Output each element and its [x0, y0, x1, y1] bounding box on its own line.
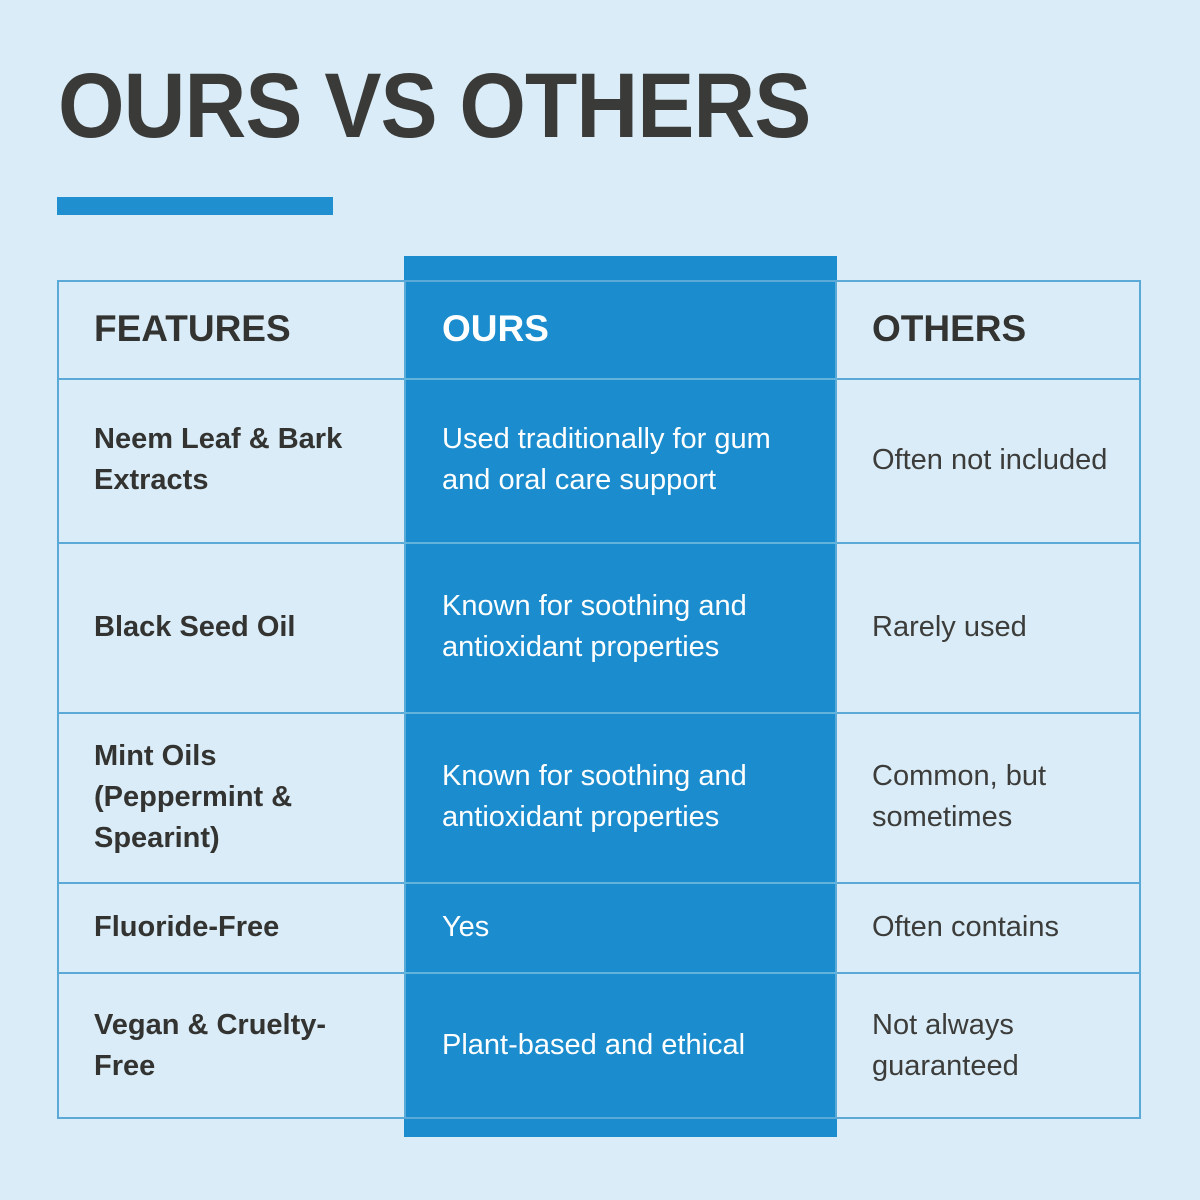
page-title: OURS VS OTHERS: [58, 54, 810, 158]
table-row: Black Seed Oil: [57, 542, 404, 712]
header-label-features: FEATURES: [94, 307, 378, 351]
table-row: Fluoride-Free: [57, 882, 404, 972]
others-cell: Common, but sometimes: [837, 712, 1141, 882]
header-label-others: OTHERS: [872, 307, 1121, 351]
ours-cell: Known for soothing and antioxidant prope…: [404, 542, 837, 712]
others-cell: Often not included: [837, 378, 1141, 542]
others-cell: Rarely used: [837, 542, 1141, 712]
feature-label: Black Seed Oil: [94, 607, 378, 648]
others-cell: Not always guaranteed: [837, 972, 1141, 1119]
feature-label: Vegan & Cruelty-Free: [94, 1005, 378, 1087]
others-value: Rarely used: [872, 607, 1121, 648]
ours-cell: Yes: [404, 882, 837, 972]
header-cell-others: OTHERS: [837, 280, 1141, 378]
comparison-infographic: OURS VS OTHERS FEATURES OURS OTHERS Neem…: [0, 0, 1200, 1200]
others-value: Common, but sometimes: [872, 756, 1121, 838]
table-row: Vegan & Cruelty-Free: [57, 972, 404, 1119]
title-accent-bar: [57, 197, 333, 215]
ours-cell: Used traditionally for gum and oral care…: [404, 378, 837, 542]
ours-value: Known for soothing and antioxidant prope…: [442, 756, 811, 838]
others-cell: Often contains: [837, 882, 1141, 972]
feature-label: Fluoride-Free: [94, 907, 378, 948]
others-value: Often contains: [872, 907, 1121, 948]
ours-value: Yes: [442, 907, 811, 948]
ours-value: Known for soothing and antioxidant prope…: [442, 586, 811, 668]
header-cell-ours: OURS: [404, 280, 837, 378]
ours-value: Used traditionally for gum and oral care…: [442, 419, 811, 501]
ours-cell: Plant-based and ethical: [404, 972, 837, 1119]
ours-value: Plant-based and ethical: [442, 1025, 811, 1066]
header-label-ours: OURS: [442, 307, 811, 351]
header-cell-features: FEATURES: [57, 280, 404, 378]
feature-label: Mint Oils (Peppermint & Spearint): [94, 736, 378, 859]
others-value: Not always guaranteed: [872, 1005, 1121, 1087]
table-row: Neem Leaf & Bark Extracts: [57, 378, 404, 542]
others-value: Often not included: [872, 440, 1121, 481]
table-row: Mint Oils (Peppermint & Spearint): [57, 712, 404, 882]
ours-cell: Known for soothing and antioxidant prope…: [404, 712, 837, 882]
feature-label: Neem Leaf & Bark Extracts: [94, 419, 378, 501]
